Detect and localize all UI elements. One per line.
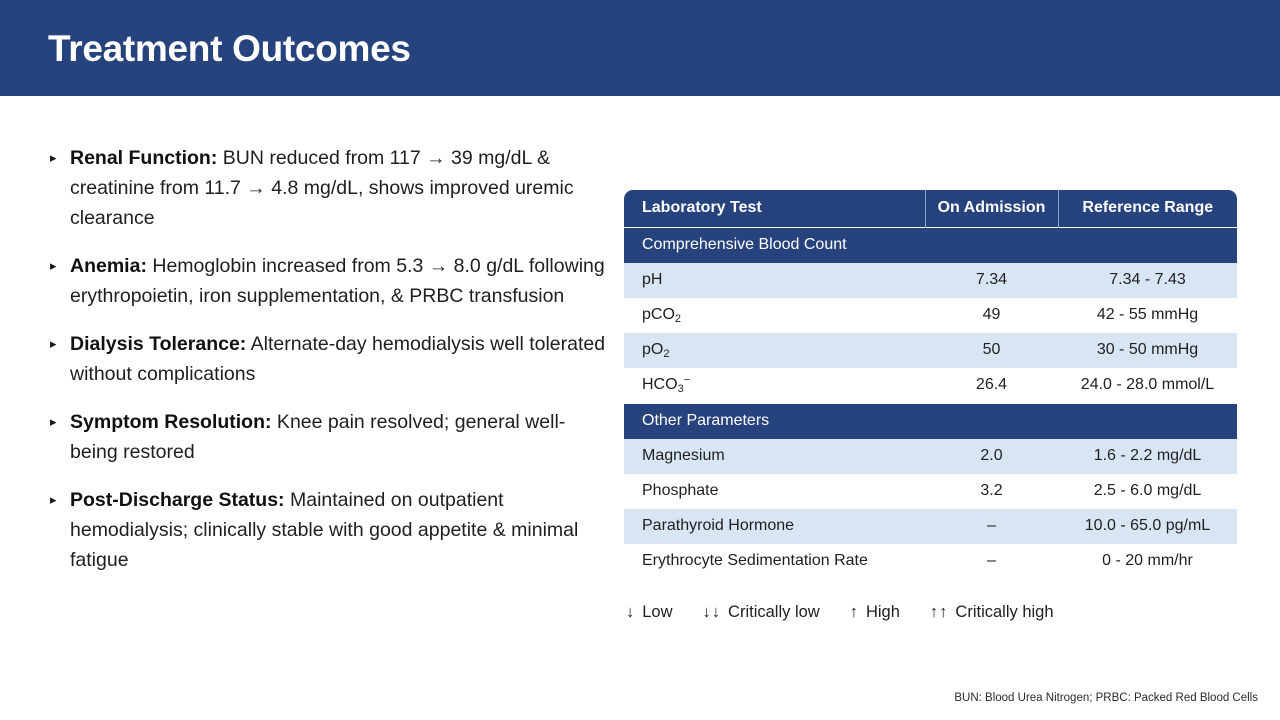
cell-test-name: Magnesium [624,439,925,474]
legend-label: Critically low [728,603,820,622]
list-item-label: Dialysis Tolerance: [70,333,246,355]
table-row: Phosphate 3.2 2.5 - 6.0 mg/dL [624,474,1237,509]
cell-admission-value: 50 [925,333,1058,368]
cell-reference-range: 24.0 - 28.0 mmol/L [1058,368,1237,404]
list-item-label: Post-Discharge Status: [70,489,285,511]
table-row: pO2 50 30 - 50 mmHg [624,333,1237,368]
arrow-double-down-icon: ↓↓ [703,603,722,622]
abbreviation-footnote: BUN: Blood Urea Nitrogen; PRBC: Packed R… [954,692,1258,704]
cell-test-name: Parathyroid Hormone [624,509,925,544]
table-row: HCO3− 26.4 24.0 - 28.0 mmol/L [624,368,1237,404]
cell-test-name: Phosphate [624,474,925,509]
slide: Treatment Outcomes ▸ Renal Function: BUN… [0,0,1280,720]
outcomes-bullet-list: ▸ Renal Function: BUN reduced from 117 →… [48,143,608,593]
cell-reference-range: 10.0 - 65.0 pg/mL [1058,509,1237,544]
subscript-2: 2 [663,348,669,360]
cell-admission-value: – [925,509,1058,544]
legend-item-critically-low: ↓↓ Critically low [703,603,820,622]
list-item-text: Symptom Resolution: Knee pain resolved; … [70,407,608,467]
triangle-bullet-icon: ▸ [48,485,70,515]
list-item: ▸ Dialysis Tolerance: Alternate-day hemo… [48,329,608,389]
cell-reference-range: 7.34 - 7.43 [1058,263,1237,298]
section-title: Comprehensive Blood Count [624,228,1237,264]
page-title: Treatment Outcomes [48,30,411,67]
triangle-bullet-icon: ▸ [48,407,70,437]
list-item: ▸ Renal Function: BUN reduced from 117 →… [48,143,608,233]
list-item-label: Renal Function: [70,147,217,169]
legend-item-high: ↑ High [850,603,900,622]
list-item-text: Dialysis Tolerance: Alternate-day hemodi… [70,329,608,389]
cell-admission-value: 3.2 [925,474,1058,509]
section-title: Other Parameters [624,404,1237,440]
cell-reference-range: 30 - 50 mmHg [1058,333,1237,368]
list-item: ▸ Symptom Resolution: Knee pain resolved… [48,407,608,467]
subscript-2: 2 [675,313,681,325]
cell-admission-value: – [925,544,1058,579]
cell-reference-range: 2.5 - 6.0 mg/dL [1058,474,1237,509]
arrow-down-icon: ↓ [626,603,635,622]
cell-test-name: pCO2 [624,298,925,333]
triangle-bullet-icon: ▸ [48,329,70,359]
cell-admission-value: 2.0 [925,439,1058,474]
list-item-text: Post-Discharge Status: Maintained on out… [70,485,608,575]
list-item: ▸ Post-Discharge Status: Maintained on o… [48,485,608,575]
table-row: pH 7.34 7.34 - 7.43 [624,263,1237,298]
table-header-row: Laboratory Test On Admission Reference R… [624,190,1237,228]
arrow-double-up-icon: ↑↑ [930,603,949,622]
cell-reference-range: 42 - 55 mmHg [1058,298,1237,333]
table-row: Erythrocyte Sedimentation Rate – 0 - 20 … [624,544,1237,579]
cell-reference-range: 0 - 20 mm/hr [1058,544,1237,579]
legend-item-critically-high: ↑↑ Critically high [930,603,1054,622]
list-item-label: Anemia: [70,255,147,277]
column-header-admission: On Admission [925,190,1058,228]
column-header-reference: Reference Range [1058,190,1237,228]
table-legend: ↓ Low ↓↓ Critically low ↑ High ↑↑ Critic… [626,603,1084,622]
table-row: pCO2 49 42 - 55 mmHg [624,298,1237,333]
list-item-detail: Hemoglobin increased from 5.3 → 8.0 g/dL… [70,255,605,307]
arrow-up-icon: ↑ [850,603,859,622]
list-item-text: Anemia: Hemoglobin increased from 5.3 → … [70,251,608,311]
cell-reference-range: 1.6 - 2.2 mg/dL [1058,439,1237,474]
legend-label: Low [642,603,672,622]
legend-label: Critically high [955,603,1053,622]
cell-test-name: Erythrocyte Sedimentation Rate [624,544,925,579]
table-row: Magnesium 2.0 1.6 - 2.2 mg/dL [624,439,1237,474]
table-row: Parathyroid Hormone – 10.0 - 65.0 pg/mL [624,509,1237,544]
subscript-3: 3 [678,383,684,395]
superscript-minus: − [684,374,690,386]
column-header-test: Laboratory Test [624,190,925,228]
section-header-row: Other Parameters [624,404,1237,440]
cell-test-name: HCO3− [624,368,925,404]
cell-admission-value: 26.4 [925,368,1058,404]
laboratory-results-table: Laboratory Test On Admission Reference R… [624,190,1237,579]
title-bar: Treatment Outcomes [0,0,1280,96]
list-item: ▸ Anemia: Hemoglobin increased from 5.3 … [48,251,608,311]
list-item-label: Symptom Resolution: [70,411,272,433]
legend-label: High [866,603,900,622]
list-item-text: Renal Function: BUN reduced from 117 → 3… [70,143,608,233]
cell-test-name: pO2 [624,333,925,368]
legend-item-low: ↓ Low [626,603,673,622]
triangle-bullet-icon: ▸ [48,251,70,281]
cell-test-name: pH [624,263,925,298]
cell-admission-value: 49 [925,298,1058,333]
section-header-row: Comprehensive Blood Count [624,228,1237,264]
cell-admission-value: 7.34 [925,263,1058,298]
triangle-bullet-icon: ▸ [48,143,70,173]
